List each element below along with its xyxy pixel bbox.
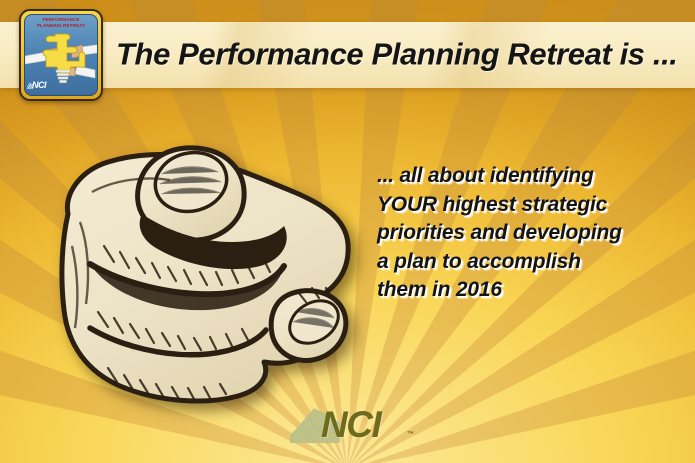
body-line-2: YOUR highest strategic [377,191,682,220]
presentation-slide: The Performance Planning Retreat is ... … [0,0,695,463]
badge-title-line-1: Performance [42,17,79,22]
puzzle-lightbulb-hands-icon [25,26,98,88]
nci-footer-logo: NCI ™ [290,404,418,448]
body-text: ... all about identifying YOUR highest s… [377,162,682,305]
body-line-5: them in 2016 [377,276,682,305]
page-title: The Performance Planning Retreat is ... [116,36,678,72]
nci-brand-text: NCI [321,404,380,446]
body-line-1: ... all about identifying [377,162,682,191]
body-line-3: priorities and developing [377,219,682,248]
program-badge-logo: Performance Planning Retreat [19,9,103,101]
pointing-hand-illustration [46,96,366,411]
pointing-hand-icon [46,96,366,411]
trademark-symbol: ™ [407,431,414,438]
badge-brand-text: NCI [32,80,46,90]
body-line-4: a plan to accomplish [377,248,682,277]
badge-inner-field: Performance Planning Retreat [24,14,98,96]
title-banner: The Performance Planning Retreat is ... [0,22,695,88]
